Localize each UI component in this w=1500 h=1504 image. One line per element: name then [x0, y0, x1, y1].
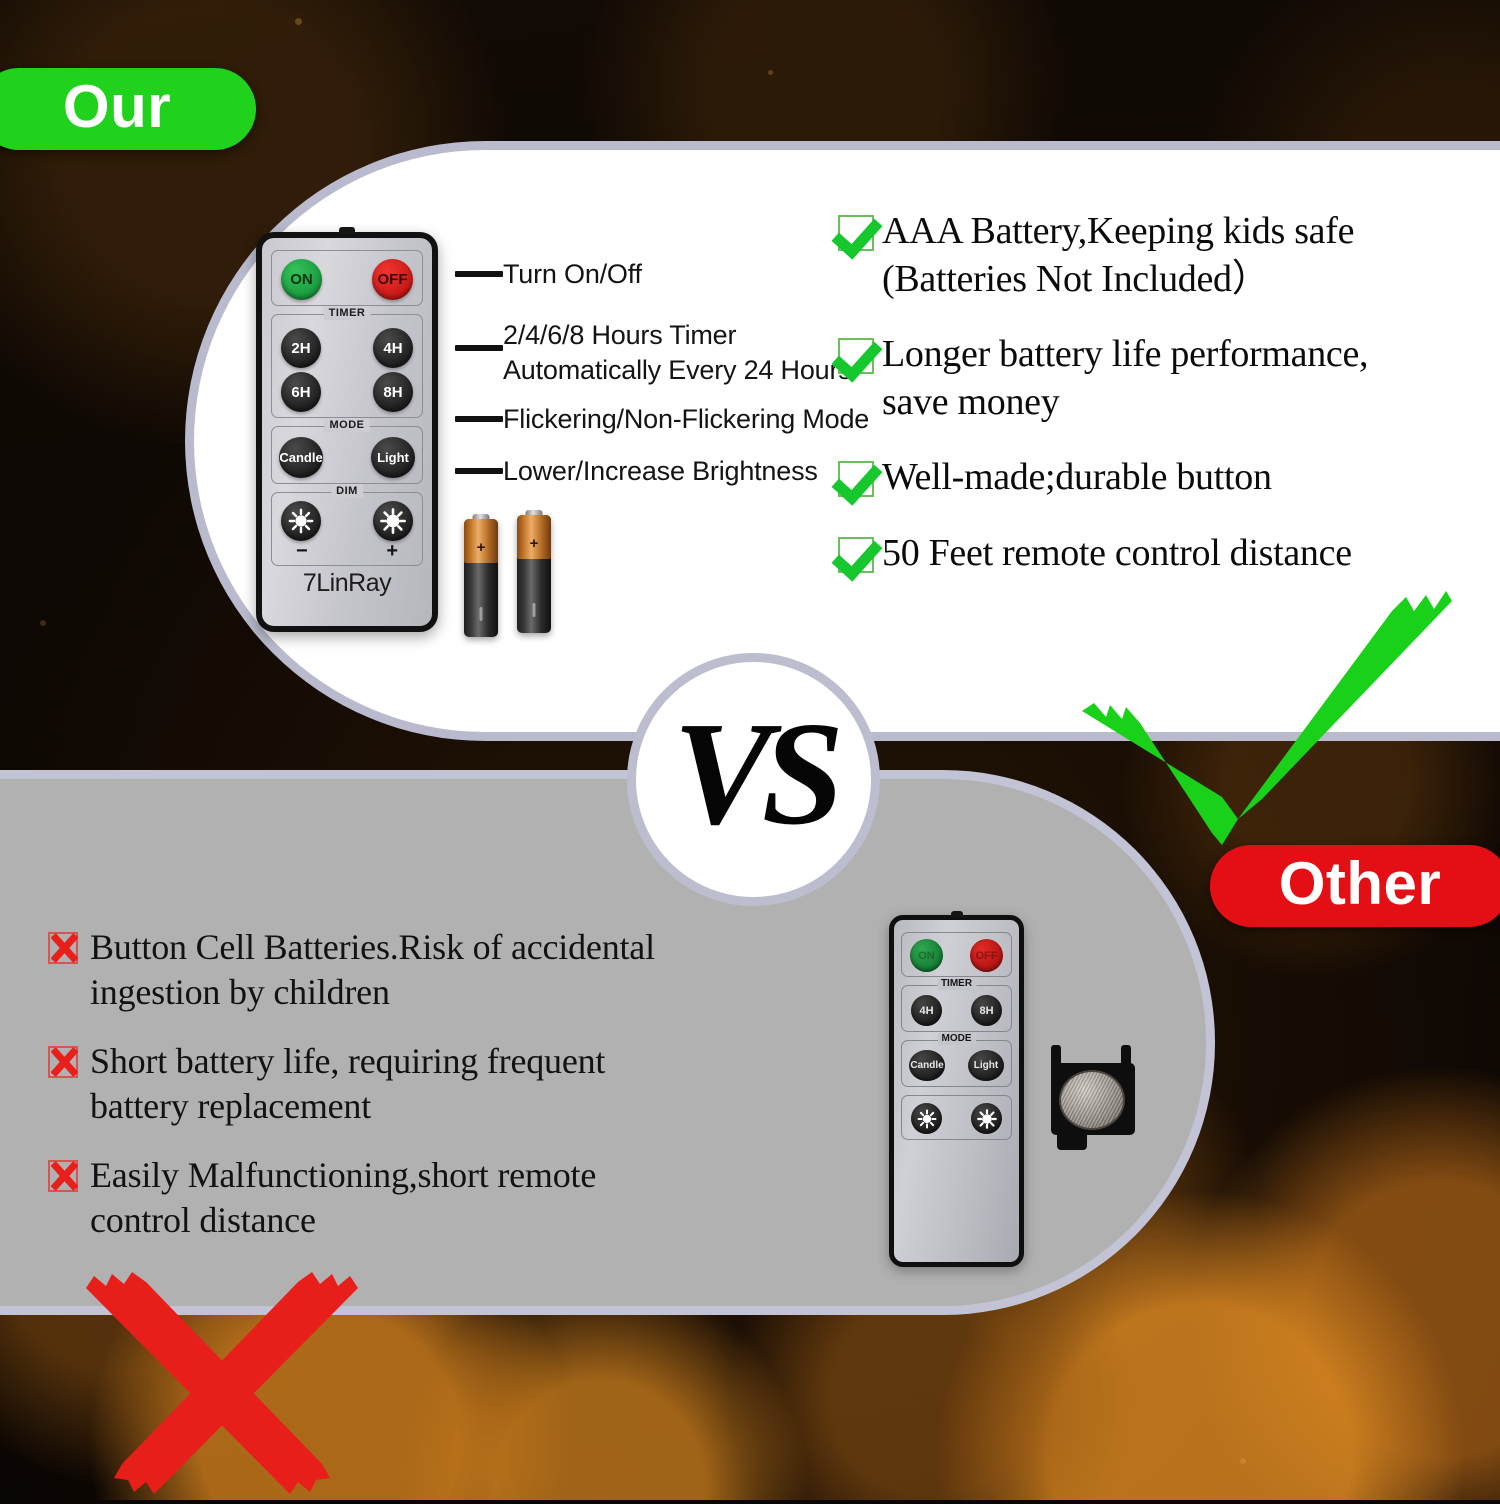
- on-button[interactable]: ON: [281, 259, 322, 300]
- timer-8h-button[interactable]: 8H: [971, 995, 1002, 1026]
- battery-stripe: [533, 603, 536, 617]
- on-button[interactable]: ON: [910, 939, 943, 972]
- mode-group: MODE Candle Light: [271, 426, 423, 484]
- mode-group-label: MODE: [938, 1033, 976, 1045]
- other-remote-control[interactable]: ON OFF TIMER 4H 8H MODE Candle Light: [889, 915, 1024, 1267]
- button-cell-battery: [1047, 1045, 1139, 1150]
- mode-group-label: MODE: [325, 418, 370, 432]
- cross-icon: [48, 932, 78, 964]
- battery-plus-label: +: [464, 540, 498, 555]
- timer-6h-button[interactable]: 6H: [281, 372, 321, 412]
- cons-item-label: Short battery life, requiring frequent b…: [90, 1039, 605, 1129]
- sun-bright-icon: [977, 1109, 997, 1129]
- remote-brand-label: 7LinRay: [262, 569, 432, 598]
- timer-group-label: TIMER: [324, 306, 371, 320]
- check-icon: [838, 215, 874, 251]
- timer-group: TIMER 4H 8H: [901, 985, 1012, 1032]
- holder-foot: [1057, 1132, 1087, 1150]
- cons-item-label: Button Cell Batteries.Risk of accidental…: [90, 925, 655, 1015]
- pros-item-label: Longer battery life performance, save mo…: [882, 331, 1368, 426]
- dim-up-button[interactable]: [373, 501, 413, 541]
- our-badge: Our: [0, 68, 256, 150]
- big-cross-icon: [72, 1248, 372, 1504]
- check-icon: [838, 537, 874, 573]
- timer-8h-button[interactable]: 8H: [373, 372, 413, 412]
- callout-power: Turn On/Off: [503, 257, 642, 292]
- timer-4h-button[interactable]: 4H: [373, 328, 413, 368]
- timer-4h-button[interactable]: 4H: [911, 995, 942, 1026]
- battery-plus-label: +: [517, 536, 551, 551]
- dim-minus-label: −: [296, 541, 308, 561]
- cons-item: Short battery life, requiring frequent b…: [48, 1039, 848, 1129]
- versus-label: VS: [673, 689, 834, 859]
- coin-cell-icon: [1059, 1070, 1125, 1130]
- callout-leader-1: [455, 271, 503, 277]
- aaa-battery-2: +: [517, 515, 551, 633]
- sun-bright-icon: [380, 508, 406, 534]
- dim-group: DIM −: [271, 492, 423, 566]
- pros-item: Well-made;durable button: [838, 454, 1488, 502]
- cons-item: Easily Malfunctioning,short remote contr…: [48, 1153, 848, 1243]
- ir-emitter-nub: [951, 911, 963, 917]
- cross-icon: [48, 1046, 78, 1078]
- callout-mode: Flickering/Non-Flickering Mode: [503, 402, 869, 437]
- timer-group-label: TIMER: [937, 978, 976, 990]
- power-group: ON OFF: [271, 250, 423, 306]
- aaa-battery-1: +: [464, 519, 498, 637]
- dim-down-button[interactable]: [281, 501, 321, 541]
- callout-timer: 2/4/6/8 Hours Timer Automatically Every …: [503, 318, 852, 388]
- pros-item: 50 Feet remote control distance: [838, 530, 1488, 578]
- mode-candle-button[interactable]: Candle: [909, 1050, 945, 1081]
- timer-group: TIMER 2H 4H 6H 8H: [271, 314, 423, 418]
- off-button[interactable]: OFF: [970, 939, 1003, 972]
- cons-item-label: Easily Malfunctioning,short remote contr…: [90, 1153, 596, 1243]
- ir-emitter-nub: [339, 227, 355, 234]
- mode-candle-button[interactable]: Candle: [279, 437, 323, 478]
- mode-light-button[interactable]: Light: [968, 1050, 1004, 1081]
- pros-item-label: AAA Battery,Keeping kids safe (Batteries…: [882, 208, 1354, 303]
- cross-icon: [48, 1160, 78, 1192]
- dim-up-button[interactable]: [971, 1103, 1002, 1134]
- pros-item-label: 50 Feet remote control distance: [882, 530, 1352, 578]
- pros-item: AAA Battery,Keeping kids safe (Batteries…: [838, 208, 1488, 303]
- sun-icon: [917, 1109, 937, 1129]
- pros-list: AAA Battery,Keeping kids safe (Batteries…: [838, 208, 1488, 605]
- cons-item: Button Cell Batteries.Risk of accidental…: [48, 925, 848, 1015]
- our-remote-control[interactable]: ON OFF TIMER 2H 4H 6H 8H MODE Candle Lig…: [256, 232, 438, 632]
- callout-leader-3: [455, 416, 503, 422]
- off-button[interactable]: OFF: [372, 259, 413, 300]
- power-group: ON OFF: [901, 932, 1012, 977]
- versus-badge: VS: [627, 653, 880, 906]
- check-icon: [838, 338, 874, 374]
- check-icon: [838, 461, 874, 497]
- timer-2h-button[interactable]: 2H: [281, 328, 321, 368]
- dim-group: [901, 1095, 1012, 1140]
- dim-down-button[interactable]: [911, 1103, 942, 1134]
- battery-stripe: [480, 607, 483, 621]
- other-badge: Other: [1210, 845, 1500, 927]
- mode-group: MODE Candle Light: [901, 1040, 1012, 1087]
- callout-leader-4: [455, 468, 503, 474]
- sun-icon: [288, 508, 314, 534]
- our-badge-label: Our: [63, 72, 171, 141]
- cons-list: Button Cell Batteries.Risk of accidental…: [48, 925, 848, 1267]
- mode-light-button[interactable]: Light: [371, 437, 415, 478]
- dim-group-label: DIM: [331, 484, 363, 498]
- big-check-icon: [1062, 583, 1462, 853]
- pros-item-label: Well-made;durable button: [882, 454, 1272, 502]
- callout-leader-2: [455, 345, 503, 351]
- callout-dim: Lower/Increase Brightness: [503, 454, 818, 489]
- pros-item: Longer battery life performance, save mo…: [838, 331, 1488, 426]
- dim-plus-label: +: [386, 541, 398, 561]
- other-badge-label: Other: [1279, 849, 1442, 918]
